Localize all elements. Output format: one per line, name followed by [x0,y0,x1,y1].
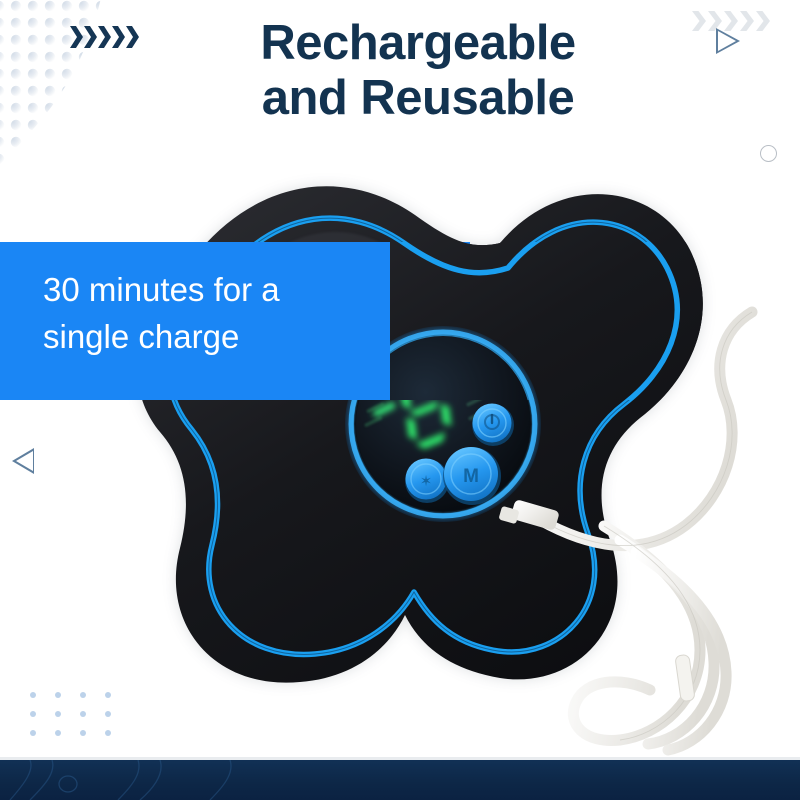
promo-banner-image: Rechargeable and Reusable [0,0,800,800]
svg-text:✶: ✶ [420,472,433,490]
bottom-strip [0,757,800,800]
product-image-massager: ✶ M [0,0,800,800]
svg-text:M: M [463,466,479,487]
charge-time-banner: 30 minutes for a single charge [0,242,470,400]
strip-texture [0,760,800,800]
charge-time-text: 30 minutes for a single charge [43,267,443,361]
